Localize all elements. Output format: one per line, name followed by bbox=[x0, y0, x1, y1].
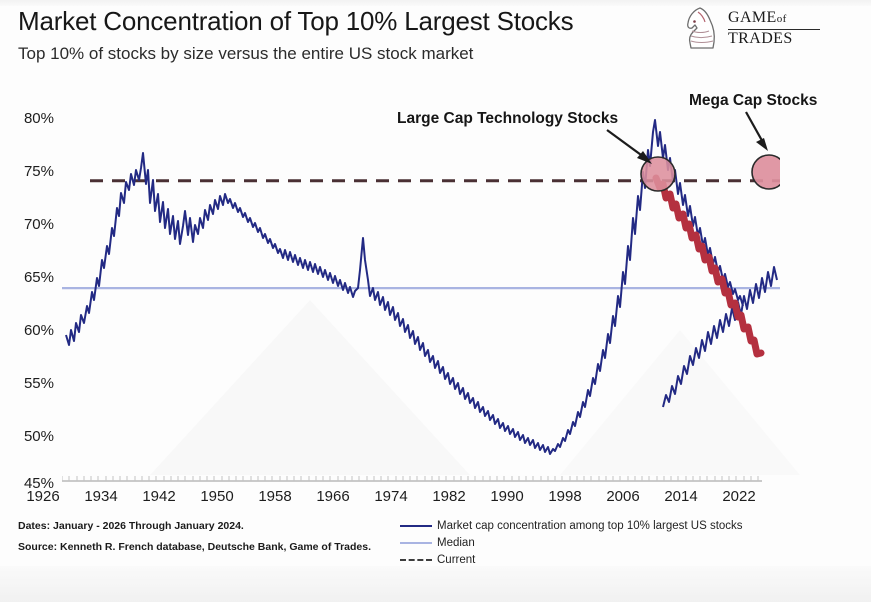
x-tick-1990: 1990 bbox=[484, 488, 530, 505]
decline-highlight-segment bbox=[656, 178, 761, 354]
chart-plot-area bbox=[62, 110, 780, 482]
annotation-large-cap-technology: Large Cap Technology Stocks bbox=[397, 110, 618, 128]
legend-swatch-median bbox=[398, 537, 434, 549]
x-tick-1950: 1950 bbox=[194, 488, 240, 505]
x-tick-1966: 1966 bbox=[310, 488, 356, 505]
x-tick-2014: 2014 bbox=[658, 488, 704, 505]
x-tick-1998: 1998 bbox=[542, 488, 588, 505]
y-tick-60: 60% bbox=[8, 322, 54, 339]
y-tick-50: 50% bbox=[8, 428, 54, 445]
legend-label-current: Current bbox=[437, 554, 475, 566]
legend-label-median: Median bbox=[437, 537, 475, 549]
x-axis-minor-ticks bbox=[62, 476, 758, 481]
x-tick-1934: 1934 bbox=[78, 488, 124, 505]
arrow-mega-cap-stocks bbox=[746, 112, 768, 151]
marker-mega-cap-stocks bbox=[752, 155, 780, 189]
market-concentration-line-chart bbox=[62, 110, 780, 482]
brand-line-2: TRADES bbox=[728, 31, 820, 47]
x-tick-2006: 2006 bbox=[600, 488, 646, 505]
y-tick-65: 65% bbox=[8, 269, 54, 286]
x-tick-1926: 1926 bbox=[20, 488, 66, 505]
y-tick-55: 55% bbox=[8, 375, 54, 392]
brand-line-1: GAMEof bbox=[728, 10, 820, 27]
chess-knight-icon bbox=[680, 4, 724, 52]
annotation-mega-cap-stocks: Mega Cap Stocks bbox=[689, 92, 817, 110]
legend-label-series: Market cap concentration among top 10% l… bbox=[437, 520, 743, 532]
y-tick-70: 70% bbox=[8, 216, 54, 233]
marker-large-cap-technology bbox=[641, 157, 675, 191]
x-tick-1982: 1982 bbox=[426, 488, 472, 505]
brand-logo: GAMEof TRADES bbox=[680, 4, 860, 54]
page-subtitle: Top 10% of stocks by size versus the ent… bbox=[18, 44, 473, 64]
legend-item-median: Median bbox=[398, 534, 743, 551]
footnote-source: Source: Kenneth R. French database, Deut… bbox=[18, 541, 371, 553]
chart-legend: Market cap concentration among top 10% l… bbox=[398, 517, 743, 568]
bottom-band bbox=[0, 566, 871, 602]
legend-item-series: Market cap concentration among top 10% l… bbox=[398, 517, 743, 534]
legend-swatch-current bbox=[398, 554, 434, 566]
legend-swatch-series bbox=[398, 520, 434, 532]
footnote-dates: Dates: January - 2026 Through January 20… bbox=[18, 520, 244, 532]
slide-root: Market Concentration of Top 10% Largest … bbox=[0, 0, 871, 602]
x-tick-1942: 1942 bbox=[136, 488, 182, 505]
y-tick-75: 75% bbox=[8, 163, 54, 180]
x-tick-1974: 1974 bbox=[368, 488, 414, 505]
x-tick-1958: 1958 bbox=[252, 488, 298, 505]
y-tick-80: 80% bbox=[8, 110, 54, 127]
page-title: Market Concentration of Top 10% Largest … bbox=[18, 6, 573, 37]
x-tick-2022: 2022 bbox=[716, 488, 762, 505]
brand-wordmark: GAMEof TRADES bbox=[728, 10, 820, 47]
arrow-large-cap-technology bbox=[607, 130, 652, 164]
